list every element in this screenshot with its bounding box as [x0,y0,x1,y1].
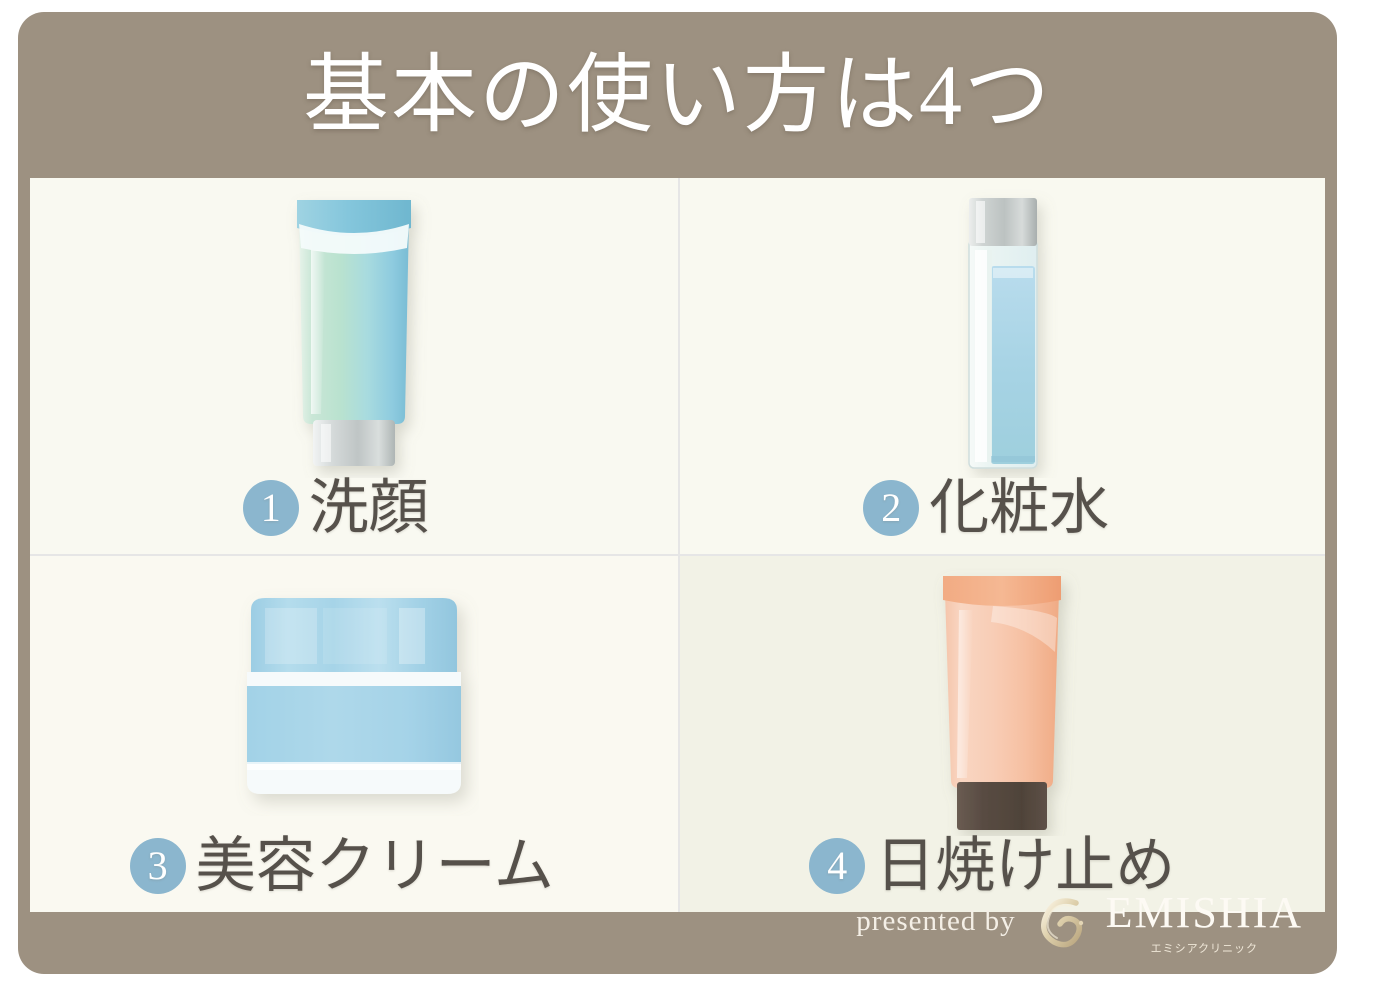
brand-text-wrap: EMISHIA エミシアクリニック [1106,891,1303,956]
step-name-1: 洗顔 [309,478,429,538]
brand-name: EMISHIA [1106,891,1303,935]
toner-bottle-icon [680,178,1326,478]
card-footer: presented by EMISHIA [18,872,1337,974]
cleanser-tube-icon [30,178,678,478]
step-number-badge-1: 1 [243,480,299,536]
sunscreen-tube-icon [680,556,1326,836]
emishia-e-leaf-logo-icon [1032,890,1094,957]
cream-jar-icon [30,556,678,836]
presented-by-text: presented by [856,905,1015,938]
page-title: 基本の使い方は4つ [18,12,1337,178]
step-cell-1[interactable]: 1 洗顔 [30,178,678,554]
step-number-badge-2: 2 [863,480,919,536]
steps-grid: 1 洗顔 [30,178,1325,872]
step-name-2: 化粧水 [929,478,1109,538]
infographic-card: 基本の使い方は4つ [18,12,1337,974]
step-label-2: 2 化粧水 [863,478,1109,538]
step-cell-4[interactable]: 4 日焼け止め [678,554,1326,912]
brand-subtitle: エミシアクリニック [1151,940,1258,956]
step-cell-2[interactable]: 2 化粧水 [678,178,1326,554]
brand-lockup: EMISHIA エミシアクリニック [1032,890,1303,957]
step-label-1: 1 洗顔 [243,478,429,538]
step-cell-3[interactable]: 3 美容クリーム [30,554,678,912]
